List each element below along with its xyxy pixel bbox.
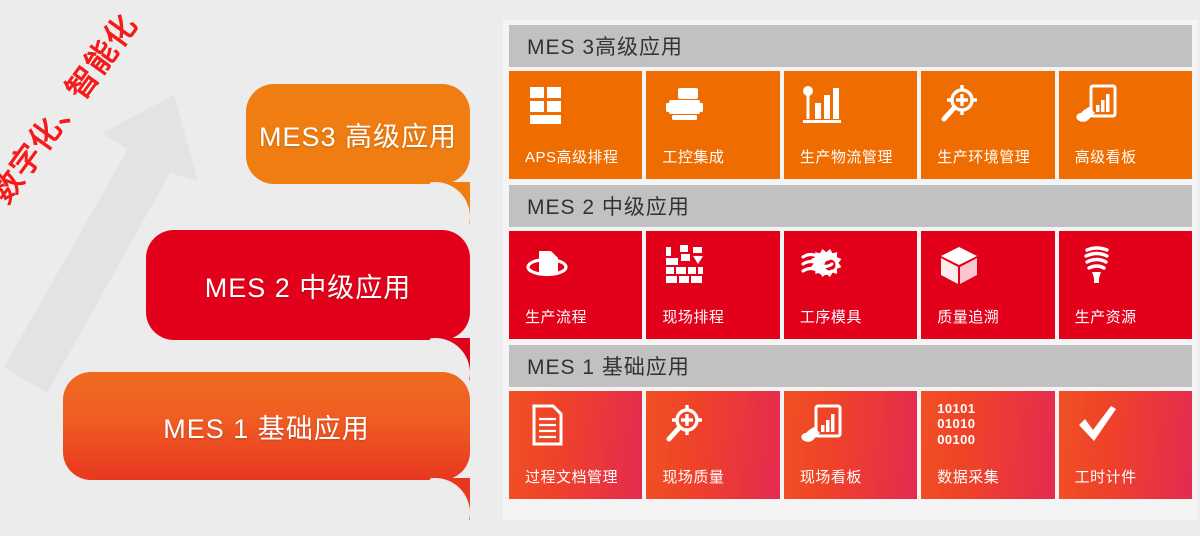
schedule-blocks-icon [662,243,706,287]
tile-label: 生产环境管理 [937,146,1030,167]
tile-process-document-management[interactable]: 过程文档管理 [509,391,642,499]
section-mes3-header: MES 3高级应用 [509,25,1192,67]
cube-box-icon [937,243,981,287]
section-mes3-title: MES 3高级应用 [527,31,683,61]
tile-data-acquisition[interactable]: 10101 01010 00100 数据采集 [921,391,1054,499]
right-panel: MES 3高级应用 APS高级排程 [503,20,1198,520]
tile-label: 现场排程 [662,306,724,327]
tile-label: APS高级排程 [525,146,619,167]
section-mes3: MES 3高级应用 APS高级排程 [509,25,1192,179]
tile-aps-advanced-scheduling[interactable]: APS高级排程 [509,71,642,179]
hand-tablet-chart-icon [1075,83,1119,127]
section-mes2: MES 2 中级应用 生产流程 [509,185,1192,339]
section-mes1-tiles: 过程文档管理 现场质量 [509,391,1192,499]
tile-production-resources[interactable]: 生产资源 [1059,231,1192,339]
tile-label: 高级看板 [1075,146,1137,167]
bubble-mes3[interactable]: MES3 高级应用 [246,84,470,184]
tile-labor-hour-piecework[interactable]: 工时计件 [1059,391,1192,499]
document-orbit-icon [525,243,569,287]
tile-production-logistics-management[interactable]: 生产物流管理 [784,71,917,179]
document-lines-icon [525,403,569,447]
bubble-mes1[interactable]: MES 1 基础应用 [63,372,470,480]
tile-label: 数据采集 [937,466,999,487]
left-panel: 数字化、智能化 MES3 高级应用 MES 2 中级应用 MES 1 基础应用 [0,0,500,536]
tile-label: 过程文档管理 [525,466,618,487]
tile-shopfloor-dashboard[interactable]: 现场看板 [784,391,917,499]
bubble-tail [430,182,470,224]
tile-label: 质量追溯 [937,306,999,327]
bubble-mes2-label: MES 2 中级应用 [146,266,470,305]
tile-label: 现场看板 [800,466,862,487]
tile-label: 工时计件 [1075,466,1137,487]
bubble-tail [430,478,470,520]
section-mes1: MES 1 基础应用 [509,345,1192,499]
tile-quality-traceability[interactable]: 质量追溯 [921,231,1054,339]
gear-waves-icon [800,243,844,287]
tile-label: 生产流程 [525,306,587,327]
bubble-mes2[interactable]: MES 2 中级应用 [146,230,470,340]
tile-label: 生产资源 [1075,306,1137,327]
section-mes2-title: MES 2 中级应用 [527,191,690,221]
tile-label: 现场质量 [662,466,724,487]
diagram-canvas: 数字化、智能化 MES3 高级应用 MES 2 中级应用 MES 1 基础应用 … [0,0,1200,536]
tile-label: 工控集成 [662,146,724,167]
section-mes1-title: MES 1 基础应用 [527,351,690,381]
section-mes1-header: MES 1 基础应用 [509,345,1192,387]
section-mes2-tiles: 生产流程 [509,231,1192,339]
tile-shopfloor-scheduling[interactable]: 现场排程 [646,231,779,339]
tile-production-environment-management[interactable]: 生产环境管理 [921,71,1054,179]
magnifier-target-icon [937,83,981,127]
spiral-bulb-icon [1075,243,1119,287]
magnifier-target-icon [662,403,706,447]
bubble-mes3-label: MES3 高级应用 [246,115,470,154]
tile-industrial-control-integration[interactable]: 工控集成 [646,71,779,179]
industrial-machine-icon [662,83,706,127]
tile-process-tooling[interactable]: 工序模具 [784,231,917,339]
section-mes3-tiles: APS高级排程 工控集成 [509,71,1192,179]
tile-shopfloor-quality[interactable]: 现场质量 [646,391,779,499]
tile-production-flow[interactable]: 生产流程 [509,231,642,339]
hand-tablet-chart-icon [800,403,844,447]
checkmark-icon [1075,403,1119,447]
binary-digits-icon: 10101 01010 00100 [937,401,975,447]
section-mes2-header: MES 2 中级应用 [509,185,1192,227]
tile-label: 工序模具 [800,306,862,327]
bar-chart-pin-icon [800,83,844,127]
grid-blocks-icon [525,83,569,127]
tile-label: 生产物流管理 [800,146,893,167]
bubble-mes1-label: MES 1 基础应用 [63,407,470,446]
tile-advanced-dashboard[interactable]: 高级看板 [1059,71,1192,179]
